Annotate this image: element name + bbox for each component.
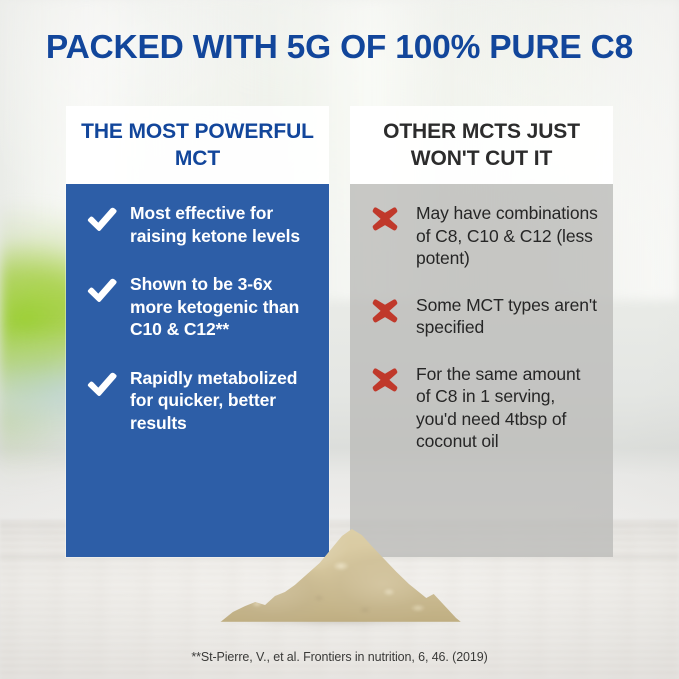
pro-bullet-text: Rapidly metabolized for quicker, better … bbox=[130, 367, 315, 435]
list-item: Most effective for raising ketone levels bbox=[86, 202, 315, 247]
list-item: Shown to be 3-6x more ketogenic than C10… bbox=[86, 273, 315, 341]
pro-card: THE MOST POWERFUL MCT Most effective for… bbox=[66, 106, 329, 557]
con-bullet-text: May have combinations of C8, C10 & C12 (… bbox=[416, 202, 599, 270]
cross-icon bbox=[372, 294, 404, 324]
pro-bullet-text: Shown to be 3-6x more ketogenic than C10… bbox=[130, 273, 315, 341]
check-icon bbox=[86, 202, 118, 232]
con-bullet-text: For the same amount of C8 in 1 serving, … bbox=[416, 363, 599, 453]
list-item: May have combinations of C8, C10 & C12 (… bbox=[372, 202, 599, 270]
check-icon bbox=[86, 273, 118, 303]
pro-bullet-text: Most effective for raising ketone levels bbox=[130, 202, 315, 247]
check-icon bbox=[86, 367, 118, 397]
con-card: OTHER MCTS JUST WON'T CUT IT May have co… bbox=[350, 106, 613, 557]
list-item: For the same amount of C8 in 1 serving, … bbox=[372, 363, 599, 453]
footnote-citation: **St-Pierre, V., et al. Frontiers in nut… bbox=[0, 649, 679, 665]
list-item: Rapidly metabolized for quicker, better … bbox=[86, 367, 315, 435]
pro-card-body: Most effective for raising ketone levels… bbox=[66, 184, 329, 557]
cross-icon bbox=[372, 363, 404, 393]
cross-icon bbox=[372, 202, 404, 232]
con-card-body: May have combinations of C8, C10 & C12 (… bbox=[350, 184, 613, 557]
con-bullet-text: Some MCT types aren't specified bbox=[416, 294, 599, 339]
pro-card-title: THE MOST POWERFUL MCT bbox=[66, 106, 329, 184]
list-item: Some MCT types aren't specified bbox=[372, 294, 599, 339]
infographic-poster: PACKED WITH 5G OF 100% PURE C8 THE MOST … bbox=[0, 0, 679, 679]
page-title: PACKED WITH 5G OF 100% PURE C8 bbox=[0, 29, 679, 67]
con-card-title: OTHER MCTS JUST WON'T CUT IT bbox=[350, 106, 613, 184]
